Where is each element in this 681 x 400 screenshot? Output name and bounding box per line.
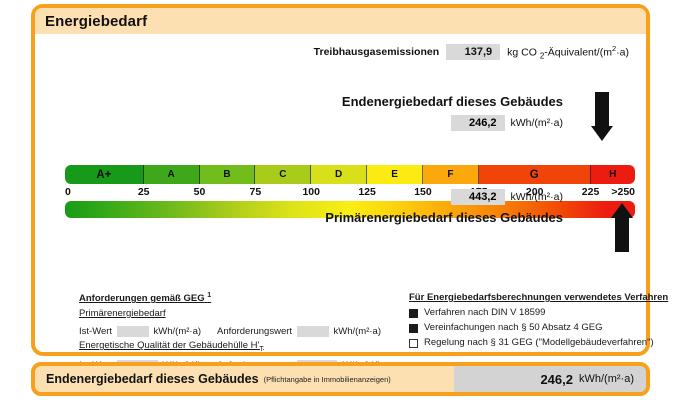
footer-value-area: 246,2 kWh/(m²·a) (454, 366, 646, 392)
footer-summary-bar: Endenergiebedarf dieses Gebäudes (Pflich… (31, 362, 650, 396)
energy-class-label: A (167, 170, 174, 180)
end-energy-caption: Endenergiebedarf dieses Gebäudes (342, 94, 563, 109)
footer-label-area: Endenergiebedarf dieses Gebäudes (Pflich… (35, 366, 454, 392)
scale-tick-label: 25 (138, 186, 150, 198)
scale-tick-label: 225 (582, 186, 600, 198)
method-item: Verfahren nach DIN V 18599 (409, 307, 679, 318)
greenhouse-gas-label: Treibhausgasemissionen (314, 46, 439, 58)
energy-class-aplus: A+ (65, 165, 144, 184)
energy-class-label: C (279, 170, 286, 180)
energy-certificate-page: Energiebedarf Treibhausgasemissionen 137… (0, 0, 681, 400)
energy-class-f: F (423, 165, 479, 184)
energy-class-label: F (447, 170, 453, 180)
scale-tick-label: 125 (358, 186, 376, 198)
anforderungswert-label-primary: Anforderungswert (217, 326, 292, 337)
energy-demand-card: Energiebedarf Treibhausgasemissionen 137… (31, 4, 650, 356)
method-label: Regelung nach § 31 GEG ("Modellgebäudeve… (424, 337, 654, 348)
end-energy-value: 246,2 (451, 115, 505, 131)
primary-energy-unit: kWh/(m²·a) (511, 191, 564, 203)
energy-class-label: B (223, 170, 230, 180)
anforderungswert-unit-primary: kWh/(m²·a) (334, 326, 382, 337)
scale-tick-label: >250 (611, 186, 635, 198)
method-checkbox[interactable] (409, 309, 418, 318)
footer-unit: kWh/(m²·a) (579, 373, 634, 385)
greenhouse-gas-value: 137,9 (446, 44, 500, 60)
card-header: Energiebedarf (35, 8, 646, 34)
scale-tick-label: 75 (250, 186, 262, 198)
methods-title: Für Energiebedarfsberechnungen verwendet… (409, 292, 679, 303)
scale-tick-label: 50 (194, 186, 206, 198)
method-item: Regelung nach § 31 GEG ("Modellgebäudeve… (409, 337, 679, 348)
footer-value: 246,2 (540, 372, 573, 387)
method-checkbox[interactable] (409, 324, 418, 333)
energy-class-h: H (591, 165, 635, 184)
energy-class-label: D (335, 170, 342, 180)
primary-energy-marker-arrow-up-icon (611, 203, 633, 252)
energy-class-a: A (144, 165, 200, 184)
energy-class-label: G (530, 170, 539, 180)
energy-class-label: H (609, 170, 616, 180)
ist-wert-label-primary: Ist-Wert (79, 326, 112, 337)
method-checkbox[interactable] (409, 339, 418, 348)
footer-label: Endenergiebedarf dieses Gebäudes (46, 372, 259, 386)
primary-energy-caption: Primärenergiebedarf dieses Gebäudes (325, 210, 563, 225)
methods-block: Für Energiebedarfsberechnungen verwendet… (409, 292, 679, 352)
card-body: Treibhausgasemissionen 137,9 kg CO 2-Äqu… (35, 34, 646, 356)
methods-list: Verfahren nach DIN V 18599Vereinfachunge… (409, 307, 679, 348)
scale-tick-label: 100 (302, 186, 320, 198)
energy-class-label: E (391, 170, 398, 180)
primary-energy-value: 443,2 (451, 189, 505, 205)
energy-class-b: B (200, 165, 256, 184)
energy-class-c: C (255, 165, 311, 184)
end-energy-value-row: 246,2 kWh/(m²·a) (451, 115, 564, 131)
energy-class-bar: A+ABCDEFGH (65, 165, 635, 184)
method-item: Vereinfachungen nach § 50 Absatz 4 GEG (409, 322, 679, 333)
requirements-subtitle-primary: Primärenergiebedarf (79, 308, 397, 319)
scale-tick-label: 150 (414, 186, 432, 198)
requirements-row-primary: Ist-Wert kWh/(m²·a) Anforderungswert kWh… (79, 326, 397, 337)
page-title: Energiebedarf (45, 13, 147, 30)
primary-energy-value-row: 443,2 kWh/(m²·a) (451, 189, 564, 205)
method-label: Verfahren nach DIN V 18599 (424, 307, 545, 318)
ist-wert-input-primary[interactable] (117, 326, 148, 337)
requirements-subtitle-envelope: Energetische Qualität der Gebäudehülle H… (79, 340, 397, 353)
scale-tick-label: 0 (65, 186, 71, 198)
energy-class-label: A+ (96, 170, 111, 180)
greenhouse-gas-unit: kg CO 2-Äquivalent/(m2·a) (507, 44, 629, 61)
energy-class-e: E (367, 165, 423, 184)
footer-note: (Pflichtangabe in Immobilienanzeigen) (264, 375, 391, 384)
requirements-title: Anforderungen gemäß GEG 1 (79, 292, 397, 304)
ist-wert-unit-primary: kWh/(m²·a) (154, 326, 202, 337)
method-label: Vereinfachungen nach § 50 Absatz 4 GEG (424, 322, 603, 333)
energy-class-g: G (479, 165, 591, 184)
anforderungswert-input-primary[interactable] (297, 326, 328, 337)
end-energy-unit: kWh/(m²·a) (511, 117, 564, 129)
energy-class-d: D (311, 165, 367, 184)
end-energy-marker-arrow-down-icon (591, 92, 613, 141)
greenhouse-gas-row: Treibhausgasemissionen 137,9 kg CO 2-Äqu… (314, 44, 629, 61)
